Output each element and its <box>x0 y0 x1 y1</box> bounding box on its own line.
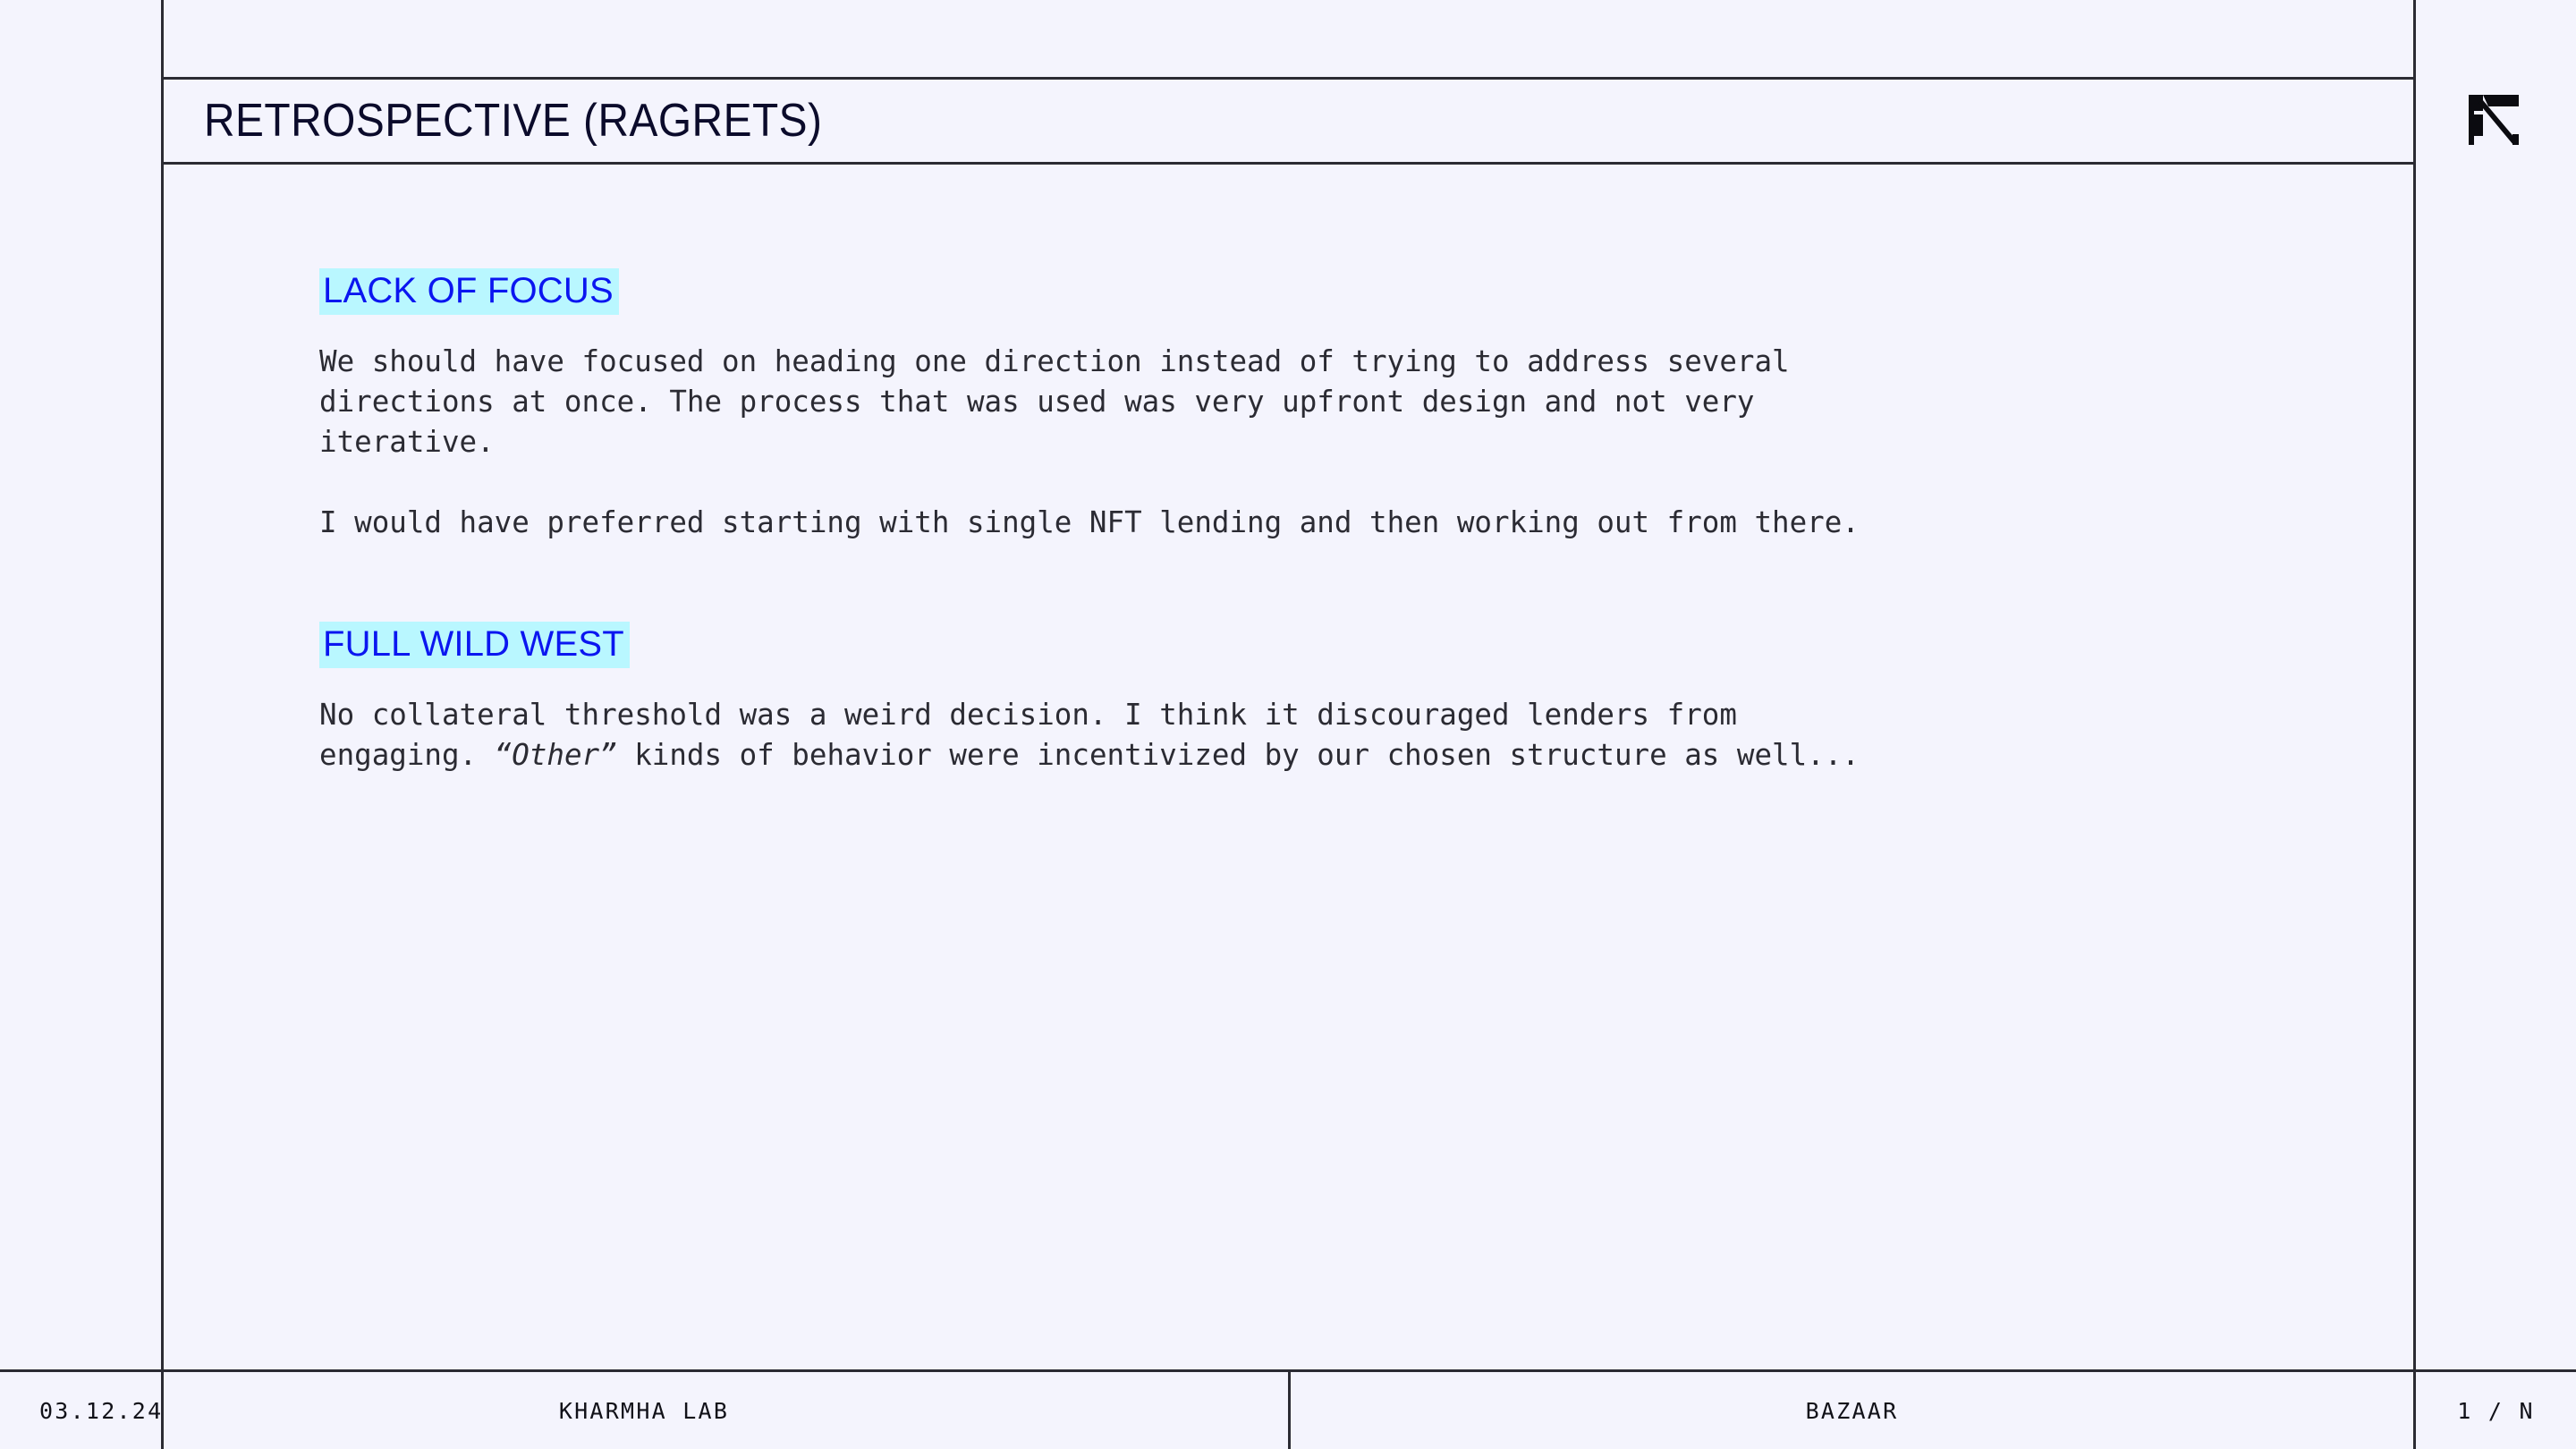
slide-content: LACK OF FOCUS We should have focused on … <box>319 268 1894 775</box>
footer-page-indicator: 1 / N <box>2416 1372 2576 1449</box>
slide-canvas: RETROSPECTIVE (RAGRETS) LACK OF FOCUS We… <box>0 0 2576 1449</box>
footer-organization: KHARMHA LAB <box>0 1372 1288 1449</box>
paragraph-text: We should have focused on heading one di… <box>319 344 1807 459</box>
left-margin-rule <box>161 0 164 1370</box>
footer-project: BAZAAR <box>1291 1372 2413 1449</box>
page-title: RETROSPECTIVE (RAGRETS) <box>204 94 822 148</box>
paragraph: No collateral threshold was a weird deci… <box>319 695 1894 775</box>
paragraph-text: I would have preferred starting with sin… <box>319 505 1860 539</box>
section-heading: LACK OF FOCUS <box>319 268 619 315</box>
section-heading: FULL WILD WEST <box>319 622 630 668</box>
paragraph: I would have preferred starting with sin… <box>319 503 1894 543</box>
section-full-wild-west: FULL WILD WEST No collateral threshold w… <box>319 622 1894 775</box>
paragraph: We should have focused on heading one di… <box>319 342 1894 462</box>
section-lack-of-focus: LACK OF FOCUS We should have focused on … <box>319 268 1894 543</box>
slide-footer: 03.12.24 KHARMHA LAB BAZAAR 1 / N <box>0 1372 2576 1449</box>
title-band: RETROSPECTIVE (RAGRETS) <box>161 77 2416 165</box>
paragraph-text-tail: kinds of behavior were incentivized by o… <box>617 738 1860 772</box>
right-margin-rule <box>2413 0 2416 1449</box>
paragraph-emphasis: “Other” <box>495 738 617 772</box>
kharmha-k-logomark-icon <box>2462 89 2526 154</box>
